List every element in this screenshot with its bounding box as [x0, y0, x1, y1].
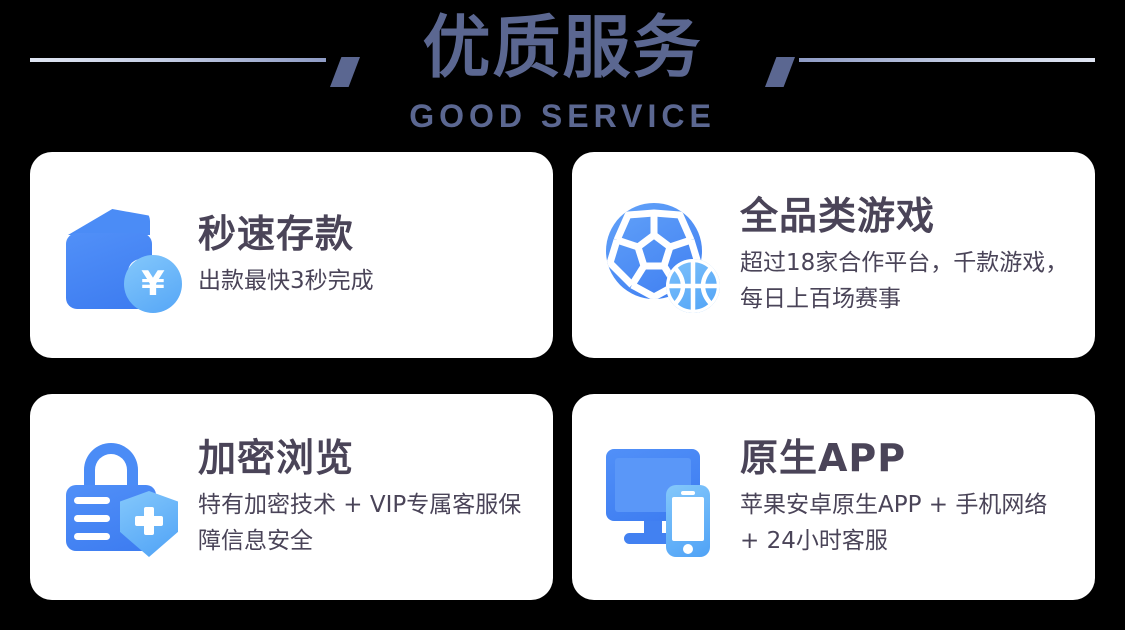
card-title: 全品类游戏	[740, 193, 1069, 239]
card-description: 特有加密技术 + VIP专属客服保障信息安全	[198, 487, 527, 559]
card-description: 超过18家合作平台，千款游戏，每日上百场赛事	[740, 245, 1069, 317]
lock-slot-1	[74, 497, 110, 504]
plus-horizontal-bar	[135, 516, 163, 526]
lock-slot-3	[74, 533, 110, 540]
phone-screen-shape	[672, 497, 704, 541]
card-text-block: 加密浏览 特有加密技术 + VIP专属客服保障信息安全	[198, 435, 527, 559]
soccer-basketball-icon	[602, 193, 726, 317]
feature-card-encryption[interactable]: 加密浏览 特有加密技术 + VIP专属客服保障信息安全	[30, 394, 553, 600]
card-description: 苹果安卓原生APP + 手机网络 + 24小时客服	[740, 487, 1069, 559]
card-text-block: 秒速存款 出款最快3秒完成	[198, 211, 527, 299]
card-text-block: 全品类游戏 超过18家合作平台，千款游戏，每日上百场赛事	[740, 193, 1069, 317]
lock-shackle-shape	[84, 443, 138, 491]
feature-card-deposit[interactable]: ¥ 秒速存款 出款最快3秒完成	[30, 152, 553, 358]
phone-speaker-shape	[681, 491, 695, 495]
card-title: 加密浏览	[198, 435, 527, 481]
feature-card-games[interactable]: 全品类游戏 超过18家合作平台，千款游戏，每日上百场赛事	[572, 152, 1095, 358]
lock-shield-icon	[60, 435, 184, 559]
yen-coin-icon: ¥	[124, 255, 182, 313]
wallet-yen-icon: ¥	[60, 193, 184, 317]
phone-home-button	[683, 544, 693, 554]
card-title: 原生APP	[740, 435, 1069, 481]
card-description: 出款最快3秒完成	[198, 263, 527, 299]
card-text-block: 原生APP 苹果安卓原生APP + 手机网络 + 24小时客服	[740, 435, 1069, 559]
card-title: 秒速存款	[198, 211, 527, 257]
wallet-flap-shape	[68, 209, 150, 235]
feature-card-grid: ¥ 秒速存款 出款最快3秒完成	[30, 152, 1095, 600]
page-header: 优质服务 GOOD SERVICE	[0, 0, 1125, 146]
page-subtitle: GOOD SERVICE	[0, 98, 1125, 134]
basketball-icon	[666, 259, 720, 313]
page-title: 优质服务	[0, 8, 1125, 90]
lock-slot-2	[74, 515, 110, 522]
feature-card-native-app[interactable]: 原生APP 苹果安卓原生APP + 手机网络 + 24小时客服	[572, 394, 1095, 600]
monitor-phone-icon	[602, 435, 726, 559]
